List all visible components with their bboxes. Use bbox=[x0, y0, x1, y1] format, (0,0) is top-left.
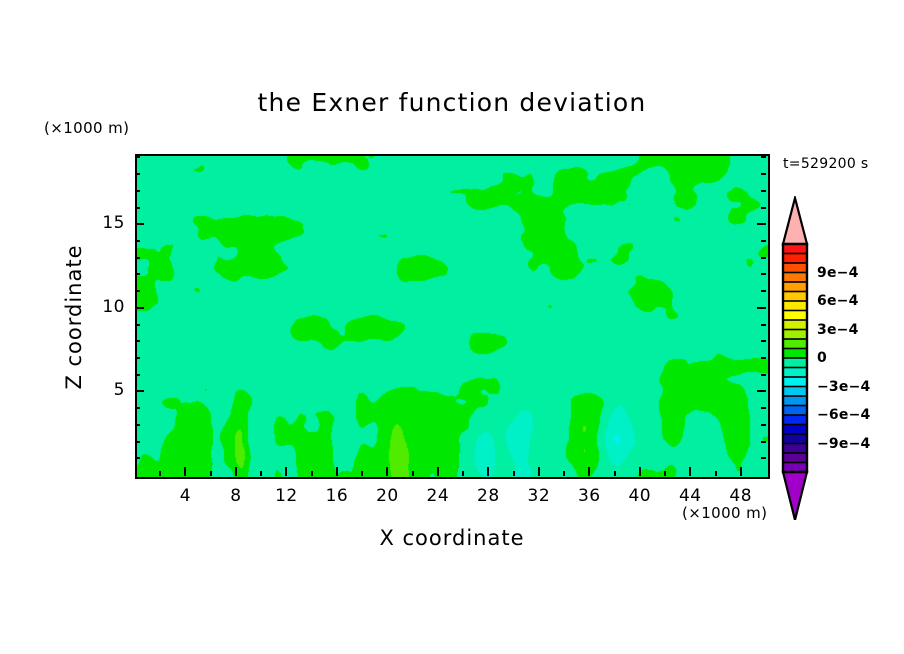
y-tick-mark-minor-right bbox=[761, 407, 766, 409]
colorbar-band bbox=[783, 301, 807, 311]
y-tick-mark-minor-right bbox=[761, 173, 766, 175]
y-axis-title: Z coordinate bbox=[62, 217, 86, 417]
y-tick-mark-minor-right bbox=[761, 357, 766, 359]
y-tick-mark-minor bbox=[135, 357, 140, 359]
y-tick-mark-minor bbox=[135, 273, 140, 275]
x-tick-mark-minor bbox=[513, 471, 515, 476]
x-tick-mark-minor bbox=[159, 471, 161, 476]
colorbar-tick-label: 0 bbox=[817, 350, 827, 366]
colorbar-tick-label: −6e−4 bbox=[817, 407, 870, 423]
x-tick-mark bbox=[336, 467, 338, 476]
y-tick-mark-minor bbox=[135, 441, 140, 443]
y-tick-mark-minor-right bbox=[761, 424, 766, 426]
y-tick-mark-minor-right bbox=[761, 273, 766, 275]
colorbar-band bbox=[783, 320, 807, 330]
colorbar-band bbox=[783, 263, 807, 273]
x-tick-mark-minor bbox=[462, 471, 464, 476]
colorbar-tick-label: 6e−4 bbox=[817, 293, 859, 309]
x-axis-units-label: (×1000 m) bbox=[682, 504, 767, 522]
y-tick-mark-minor bbox=[135, 240, 140, 242]
colorbar-band bbox=[783, 444, 807, 454]
x-tick-mark bbox=[437, 467, 439, 476]
colorbar-band bbox=[783, 425, 807, 435]
colorbar-svg bbox=[778, 196, 812, 520]
y-tick-mark-right bbox=[757, 307, 766, 309]
x-tick-mark bbox=[689, 467, 691, 476]
time-stamp-label: t=529200 s bbox=[783, 156, 868, 172]
colorbar-tick-label: −3e−4 bbox=[817, 379, 870, 395]
y-tick-mark bbox=[135, 307, 144, 309]
colorbar-over-arrow bbox=[783, 198, 807, 244]
y-tick-mark bbox=[135, 223, 144, 225]
colorbar-band bbox=[783, 254, 807, 264]
colorbar-band bbox=[783, 396, 807, 406]
x-axis-title: X coordinate bbox=[0, 526, 904, 550]
x-tick-mark-minor bbox=[563, 471, 565, 476]
y-tick-mark-minor bbox=[135, 207, 140, 209]
x-tick-mark-minor bbox=[260, 471, 262, 476]
x-tick-mark bbox=[740, 467, 742, 476]
colorbar-band bbox=[783, 273, 807, 283]
x-tick-mark-minor bbox=[412, 471, 414, 476]
y-tick-mark-minor-right bbox=[761, 156, 766, 158]
x-tick-label: 48 bbox=[711, 486, 771, 506]
x-tick-mark bbox=[386, 467, 388, 476]
y-tick-mark bbox=[135, 390, 144, 392]
y-tick-mark-minor bbox=[135, 173, 140, 175]
colorbar bbox=[778, 196, 812, 520]
y-tick-mark-minor-right bbox=[761, 290, 766, 292]
x-tick-mark-minor bbox=[614, 471, 616, 476]
y-tick-mark-right bbox=[757, 390, 766, 392]
colorbar-band bbox=[783, 244, 807, 254]
y-tick-mark-minor bbox=[135, 324, 140, 326]
colorbar-under-arrow bbox=[783, 472, 807, 520]
x-tick-mark-minor bbox=[664, 471, 666, 476]
x-tick-mark bbox=[235, 467, 237, 476]
contour-plot-area bbox=[135, 154, 770, 479]
y-tick-mark-minor-right bbox=[761, 190, 766, 192]
y-tick-mark-minor bbox=[135, 374, 140, 376]
y-tick-mark-minor-right bbox=[761, 457, 766, 459]
y-tick-mark-minor bbox=[135, 290, 140, 292]
x-tick-mark bbox=[487, 467, 489, 476]
colorbar-band bbox=[783, 453, 807, 463]
y-tick-mark-minor bbox=[135, 190, 140, 192]
x-tick-mark bbox=[285, 467, 287, 476]
y-tick-mark-minor-right bbox=[761, 340, 766, 342]
colorbar-band bbox=[783, 349, 807, 359]
x-tick-mark bbox=[538, 467, 540, 476]
x-tick-mark bbox=[588, 467, 590, 476]
y-tick-mark-right bbox=[757, 223, 766, 225]
colorbar-band bbox=[783, 434, 807, 444]
colorbar-band bbox=[783, 311, 807, 321]
y-tick-mark-minor bbox=[135, 407, 140, 409]
y-axis-units-label: (×1000 m) bbox=[44, 119, 129, 137]
contour-field-canvas bbox=[137, 156, 768, 477]
colorbar-tick-label: −9e−4 bbox=[817, 436, 870, 452]
y-tick-mark-minor-right bbox=[761, 441, 766, 443]
colorbar-band bbox=[783, 330, 807, 340]
x-tick-mark-minor bbox=[210, 471, 212, 476]
colorbar-band bbox=[783, 339, 807, 349]
colorbar-band bbox=[783, 387, 807, 397]
x-tick-mark-minor bbox=[311, 471, 313, 476]
y-tick-mark-minor-right bbox=[761, 207, 766, 209]
y-tick-mark-minor bbox=[135, 424, 140, 426]
colorbar-band bbox=[783, 415, 807, 425]
y-tick-mark-minor-right bbox=[761, 240, 766, 242]
y-tick-mark-minor bbox=[135, 457, 140, 459]
y-tick-mark-minor-right bbox=[761, 374, 766, 376]
y-tick-mark-minor-right bbox=[761, 257, 766, 259]
y-tick-mark-minor bbox=[135, 257, 140, 259]
x-tick-mark bbox=[639, 467, 641, 476]
colorbar-band bbox=[783, 282, 807, 292]
colorbar-band bbox=[783, 292, 807, 302]
y-tick-mark-minor bbox=[135, 156, 140, 158]
x-tick-mark-minor bbox=[715, 471, 717, 476]
colorbar-band bbox=[783, 377, 807, 387]
colorbar-tick-label: 3e−4 bbox=[817, 322, 859, 338]
page-title: the Exner function deviation bbox=[0, 88, 904, 117]
y-tick-mark-minor-right bbox=[761, 324, 766, 326]
colorbar-tick-label: 9e−4 bbox=[817, 265, 859, 281]
x-tick-mark-minor bbox=[361, 471, 363, 476]
colorbar-band bbox=[783, 406, 807, 416]
colorbar-band bbox=[783, 368, 807, 378]
x-tick-mark bbox=[184, 467, 186, 476]
colorbar-band bbox=[783, 358, 807, 368]
y-tick-mark-minor bbox=[135, 340, 140, 342]
